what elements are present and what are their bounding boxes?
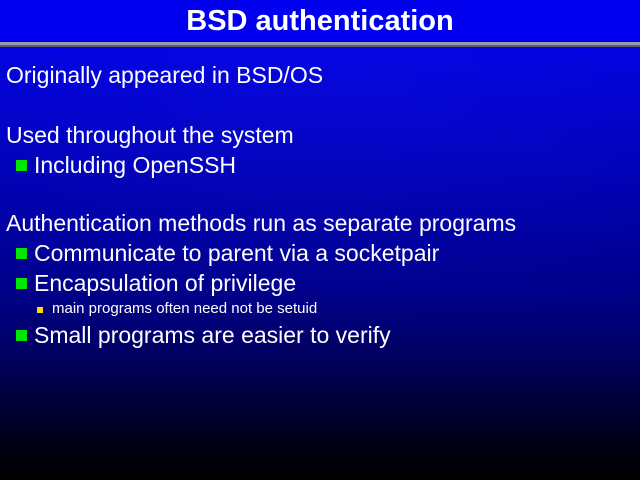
bullet-list-item: Including OpenSSH bbox=[0, 150, 640, 180]
presentation-slide: BSD authentication Originally appeared i… bbox=[0, 0, 640, 480]
divider-shadow-edge bbox=[0, 45, 640, 47]
yellow-dot-bullet-icon bbox=[37, 307, 43, 313]
green-square-bullet-icon bbox=[16, 330, 27, 341]
bullet-list-item: Small programs are easier to verify bbox=[0, 320, 640, 350]
slide-title: BSD authentication bbox=[0, 4, 640, 38]
bullet-label: Including OpenSSH bbox=[34, 152, 236, 178]
body-line: Authentication methods run as separate p… bbox=[0, 208, 640, 238]
content-block: Used throughout the system Including Ope… bbox=[0, 120, 640, 180]
body-line: Originally appeared in BSD/OS bbox=[0, 60, 640, 90]
bullet-list-item: Encapsulation of privilege bbox=[0, 268, 640, 298]
green-square-bullet-icon bbox=[16, 248, 27, 259]
sub-bullet-list-item: main programs often need not be setuid bbox=[0, 298, 640, 320]
block-spacer bbox=[0, 180, 640, 208]
content-block: Originally appeared in BSD/OS bbox=[0, 60, 640, 90]
content-block: Authentication methods run as separate p… bbox=[0, 208, 640, 350]
green-square-bullet-icon bbox=[16, 278, 27, 289]
title-divider-rule bbox=[0, 42, 640, 47]
slide-body: Originally appeared in BSD/OS Used throu… bbox=[0, 60, 640, 350]
bullet-label: Communicate to parent via a socketpair bbox=[34, 240, 439, 266]
sub-bullet-label: main programs often need not be setuid bbox=[52, 300, 317, 317]
bullet-list-item: Communicate to parent via a socketpair bbox=[0, 238, 640, 268]
bullet-label: Small programs are easier to verify bbox=[34, 322, 391, 348]
bullet-label: Encapsulation of privilege bbox=[34, 270, 296, 296]
body-line: Used throughout the system bbox=[0, 120, 640, 150]
block-spacer bbox=[0, 90, 640, 120]
green-square-bullet-icon bbox=[16, 160, 27, 171]
